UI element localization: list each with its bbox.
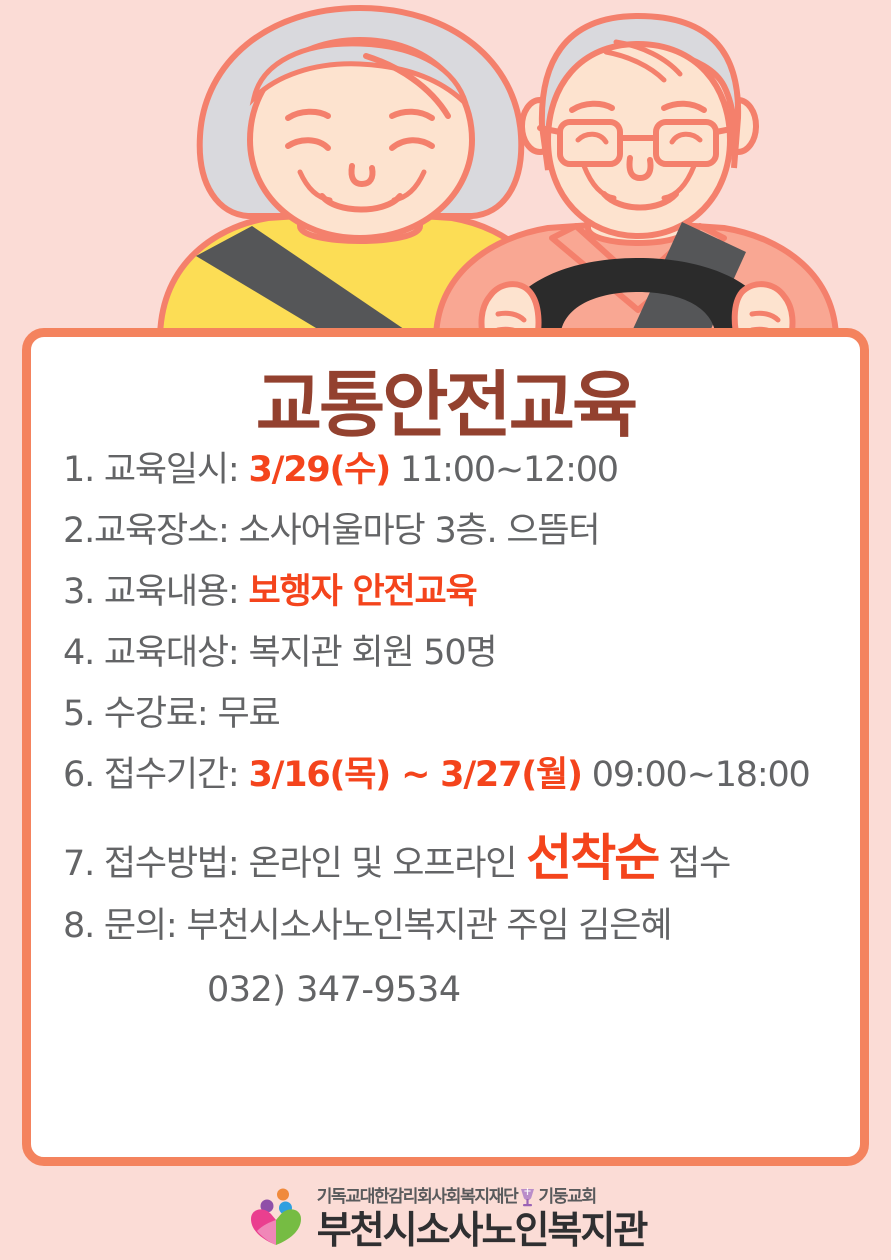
item-label: 교육대상: 복지관 회원 50명 bbox=[104, 633, 497, 673]
item-label: 교육내용: bbox=[104, 572, 249, 612]
list-item: 1. 교육일시: 3/29(수) 11:00~12:00 bbox=[63, 453, 834, 488]
item-highlight: 3/16(목) ~ 3/27(월) bbox=[248, 755, 581, 795]
item-tail: 11:00~12:00 bbox=[390, 450, 618, 490]
list-item: 5. 수강료: 무료 bbox=[63, 697, 834, 732]
item-label: 교육일시: bbox=[104, 450, 249, 490]
page-title: 교통안전교육 bbox=[57, 367, 834, 445]
footer-logo: 기독교대한감리회사회복지재단 기둥교회 부천시소사노인복지관 bbox=[0, 1176, 891, 1260]
list-item: 7. 접수방법: 온라인 및 오프라인 선착순 접수 bbox=[63, 833, 834, 883]
info-list: 1. 교육일시: 3/29(수) 11:00~12:00 2.교육장소: 소사어… bbox=[57, 453, 834, 944]
welfare-center-name: 부천시소사노인복지관 bbox=[317, 1211, 647, 1249]
logo-text-block: 기독교대한감리회사회복지재단 기둥교회 부천시소사노인복지관 bbox=[317, 1188, 647, 1249]
item-num: 2. bbox=[63, 511, 94, 551]
list-item: 8. 문의: 부천시소사노인복지관 주임 김은혜 bbox=[63, 909, 834, 944]
item-label: 수강료: 무료 bbox=[104, 694, 280, 734]
item-num: 4. bbox=[63, 633, 104, 673]
item-highlight: 선착순 bbox=[526, 829, 658, 887]
item-highlight: 보행자 안전교육 bbox=[248, 572, 476, 612]
item-label: 접수방법: 온라인 및 오프라인 bbox=[104, 844, 526, 884]
church-chalice-icon bbox=[519, 1188, 536, 1207]
foundation-name: 기독교대한감리회사회복지재단 bbox=[317, 1189, 518, 1206]
list-item: 3. 교육내용: 보행자 안전교육 bbox=[63, 575, 834, 610]
list-item: 2.교육장소: 소사어울마당 3층. 으뜸터 bbox=[63, 514, 834, 549]
church-name: 기둥교회 bbox=[538, 1189, 595, 1206]
item-num: 8. bbox=[63, 906, 104, 946]
list-item: 6. 접수기간: 3/16(목) ~ 3/27(월) 09:00~18:00 bbox=[63, 758, 834, 793]
item-tail: 09:00~18:00 bbox=[582, 755, 810, 795]
welfare-center-logo-icon bbox=[245, 1187, 307, 1249]
item-num: 5. bbox=[63, 694, 104, 734]
logo-subline: 기독교대한감리회사회복지재단 기둥교회 bbox=[317, 1188, 647, 1207]
list-item: 4. 교육대상: 복지관 회원 50명 bbox=[63, 636, 834, 671]
item-label: 문의: 부천시소사노인복지관 주임 김은혜 bbox=[104, 906, 671, 946]
contact-phone: 032) 347-9534 bbox=[57, 970, 834, 1010]
item-label: 접수기간: bbox=[104, 755, 249, 795]
item-label: 교육장소: 소사어울마당 3층. 으뜸터 bbox=[94, 511, 599, 551]
item-num: 3. bbox=[63, 572, 104, 612]
header-illustration bbox=[0, 0, 891, 340]
item-num: 1. bbox=[63, 450, 104, 490]
item-tail: 접수 bbox=[658, 844, 730, 884]
item-highlight: 3/29(수) bbox=[248, 450, 390, 490]
item-num: 6. bbox=[63, 755, 104, 795]
item-num: 7. bbox=[63, 844, 104, 884]
notice-card: 교통안전교육 1. 교육일시: 3/29(수) 11:00~12:00 2.교육… bbox=[22, 328, 869, 1166]
